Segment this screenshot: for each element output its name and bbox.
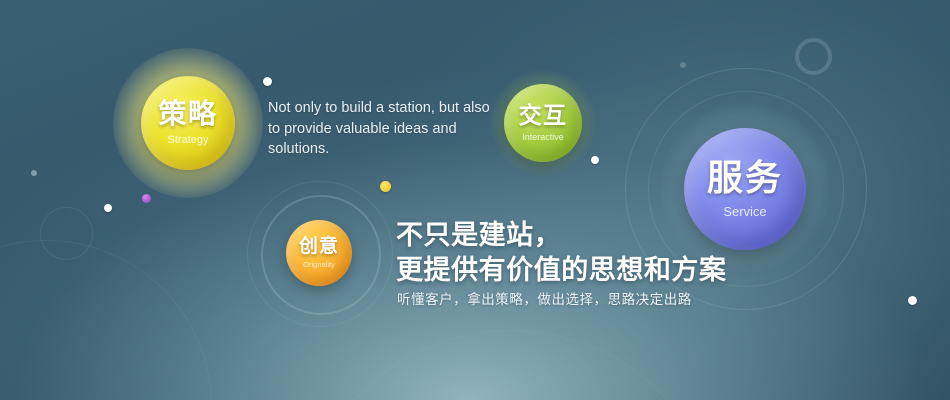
decorative-ring-top-right bbox=[795, 38, 832, 75]
bubble-originality-label-en: Orignality bbox=[303, 261, 335, 269]
decorative-dot-purple bbox=[142, 194, 151, 203]
decorative-ring-left bbox=[40, 207, 93, 260]
decorative-ring-large-bottom bbox=[300, 330, 722, 400]
decorative-ring-large-left bbox=[0, 240, 212, 400]
decorative-dot-white bbox=[263, 77, 272, 86]
decorative-dot-white bbox=[908, 296, 917, 305]
bubble-originality[interactable]: 创意 Orignality bbox=[286, 220, 352, 286]
bubble-strategy-label-cn: 策略 bbox=[158, 100, 217, 128]
bubble-service-label-en: Service bbox=[723, 205, 766, 218]
bubble-strategy[interactable]: 策略 Strategy bbox=[141, 76, 235, 170]
bubble-originality-label-cn: 创意 bbox=[299, 237, 339, 256]
intro-text-line2: to provide valuable ideas and solutions. bbox=[268, 119, 518, 160]
bubble-interactive-label-en: Interactive bbox=[522, 133, 564, 142]
intro-text-line1: Not only to build a station, but also bbox=[268, 98, 518, 119]
headline-line2: 更提供有价值的思想和方案 bbox=[396, 253, 746, 288]
decorative-dot-gray bbox=[680, 62, 686, 68]
decorative-dot-white bbox=[104, 204, 112, 212]
banner-stage: 策略 Strategy 交互 Interactive 创意 Orignality… bbox=[0, 0, 950, 400]
bubble-interactive-label-cn: 交互 bbox=[519, 104, 568, 127]
decorative-dot-gray bbox=[31, 170, 37, 176]
headline: 不只是建站， 更提供有价值的思想和方案 bbox=[396, 218, 746, 287]
subheadline: 听懂客户，拿出策略，做出选择，思路决定出路 bbox=[397, 288, 727, 308]
decorative-dot-white bbox=[591, 156, 599, 164]
decorative-dot-yellow bbox=[380, 181, 391, 192]
bubble-strategy-label-en: Strategy bbox=[168, 135, 209, 146]
intro-text: Not only to build a station, but also to… bbox=[268, 98, 518, 160]
headline-line1: 不只是建站， bbox=[396, 218, 746, 253]
bubble-service-label-cn: 服务 bbox=[707, 160, 783, 196]
